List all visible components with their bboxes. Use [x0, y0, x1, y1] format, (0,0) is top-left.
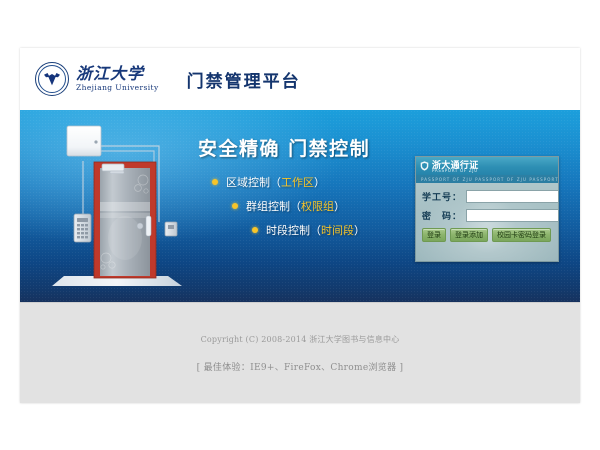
login-panel-title-en: PASSPORT OF ZJU [432, 168, 478, 173]
bullet-label: 时段控制（ [266, 222, 321, 238]
login-button[interactable]: 登录 [422, 228, 446, 242]
university-name-en: Zhejiang University [76, 84, 159, 92]
bullet-dot-icon [252, 227, 258, 233]
feature-bullet-list: 区域控制（ 工作区 ） 群组控制（ 权限组 ） 时段控制（ 时间段 [198, 174, 428, 238]
bullet-label: 区域控制（ [226, 174, 281, 190]
login-add-button[interactable]: 登录添加 [450, 228, 488, 242]
bullet-dot-icon [232, 203, 238, 209]
bullet-tail: ） [354, 222, 365, 238]
bullet-dot-icon [212, 179, 218, 185]
site-header: 浙江大学 Zhejiang University 门禁管理平台 [20, 48, 580, 110]
campus-card-login-button[interactable]: 校园卡密码登录 [492, 228, 551, 242]
login-panel-titlebar: 浙大通行证 PASSPORT OF ZJU [416, 157, 558, 175]
app-screen: 浙江大学 Zhejiang University 门禁管理平台 [0, 0, 600, 450]
password-input[interactable] [466, 209, 559, 222]
bullet-accent: 权限组 [301, 198, 334, 214]
access-control-door-illustration [50, 118, 190, 298]
username-label: 学工号： [422, 190, 466, 203]
bullet-tail: ） [314, 174, 325, 190]
bullet-accent: 时间段 [321, 222, 354, 238]
page-title: 门禁管理平台 [187, 67, 301, 92]
username-input[interactable] [466, 190, 559, 203]
list-item[interactable]: 区域控制（ 工作区 ） [212, 174, 428, 190]
login-form: 学工号： 密 码： 登录 登录添加 校园卡密码登录 [416, 183, 558, 242]
banner-copy: 安全精确 门禁控制 区域控制（ 工作区 ） 群组控制（ 权限组 ） [198, 134, 428, 246]
bullet-tail: ） [334, 198, 345, 214]
university-name: 浙江大学 Zhejiang University [76, 66, 159, 92]
hero-banner: 安全精确 门禁控制 区域控制（ 工作区 ） 群组控制（ 权限组 ） [20, 110, 580, 302]
login-panel: 浙大通行证 PASSPORT OF ZJU PASSPORT OF ZJU PA… [415, 156, 559, 262]
browser-support-note: [ 最佳体验：IE9+、FireFox、Chrome浏览器 ] [20, 360, 580, 373]
login-button-group: 登录 登录添加 校园卡密码登录 [422, 228, 552, 242]
page-sheet: 浙江大学 Zhejiang University 门禁管理平台 [20, 48, 580, 403]
list-item[interactable]: 时段控制（ 时间段 ） [252, 222, 428, 238]
shield-icon [420, 161, 429, 171]
university-name-cn: 浙江大学 [76, 66, 159, 82]
seal-bird-glyph [43, 72, 61, 87]
bullet-accent: 工作区 [281, 174, 314, 190]
passport-watermark-strip: PASSPORT OF ZJU PASSPORT OF ZJU PASSPORT… [416, 175, 558, 183]
copyright-text: Copyright (C) 2008-2014 浙江大学图书与信息中心 [20, 334, 580, 345]
username-field-row: 学工号： [422, 190, 552, 203]
bullet-label: 群组控制（ [246, 198, 301, 214]
zhejiang-university-seal-icon [35, 62, 69, 96]
password-label: 密 码： [422, 209, 466, 222]
list-item[interactable]: 群组控制（ 权限组 ） [232, 198, 428, 214]
watermark-text: PASSPORT OF ZJU PASSPORT OF ZJU PASSPORT… [416, 177, 558, 182]
password-field-row: 密 码： [422, 209, 552, 222]
banner-headline: 安全精确 门禁控制 [198, 134, 428, 161]
site-footer: Copyright (C) 2008-2014 浙江大学图书与信息中心 [ 最佳… [20, 302, 580, 403]
university-logo-block[interactable]: 浙江大学 Zhejiang University [35, 62, 159, 96]
